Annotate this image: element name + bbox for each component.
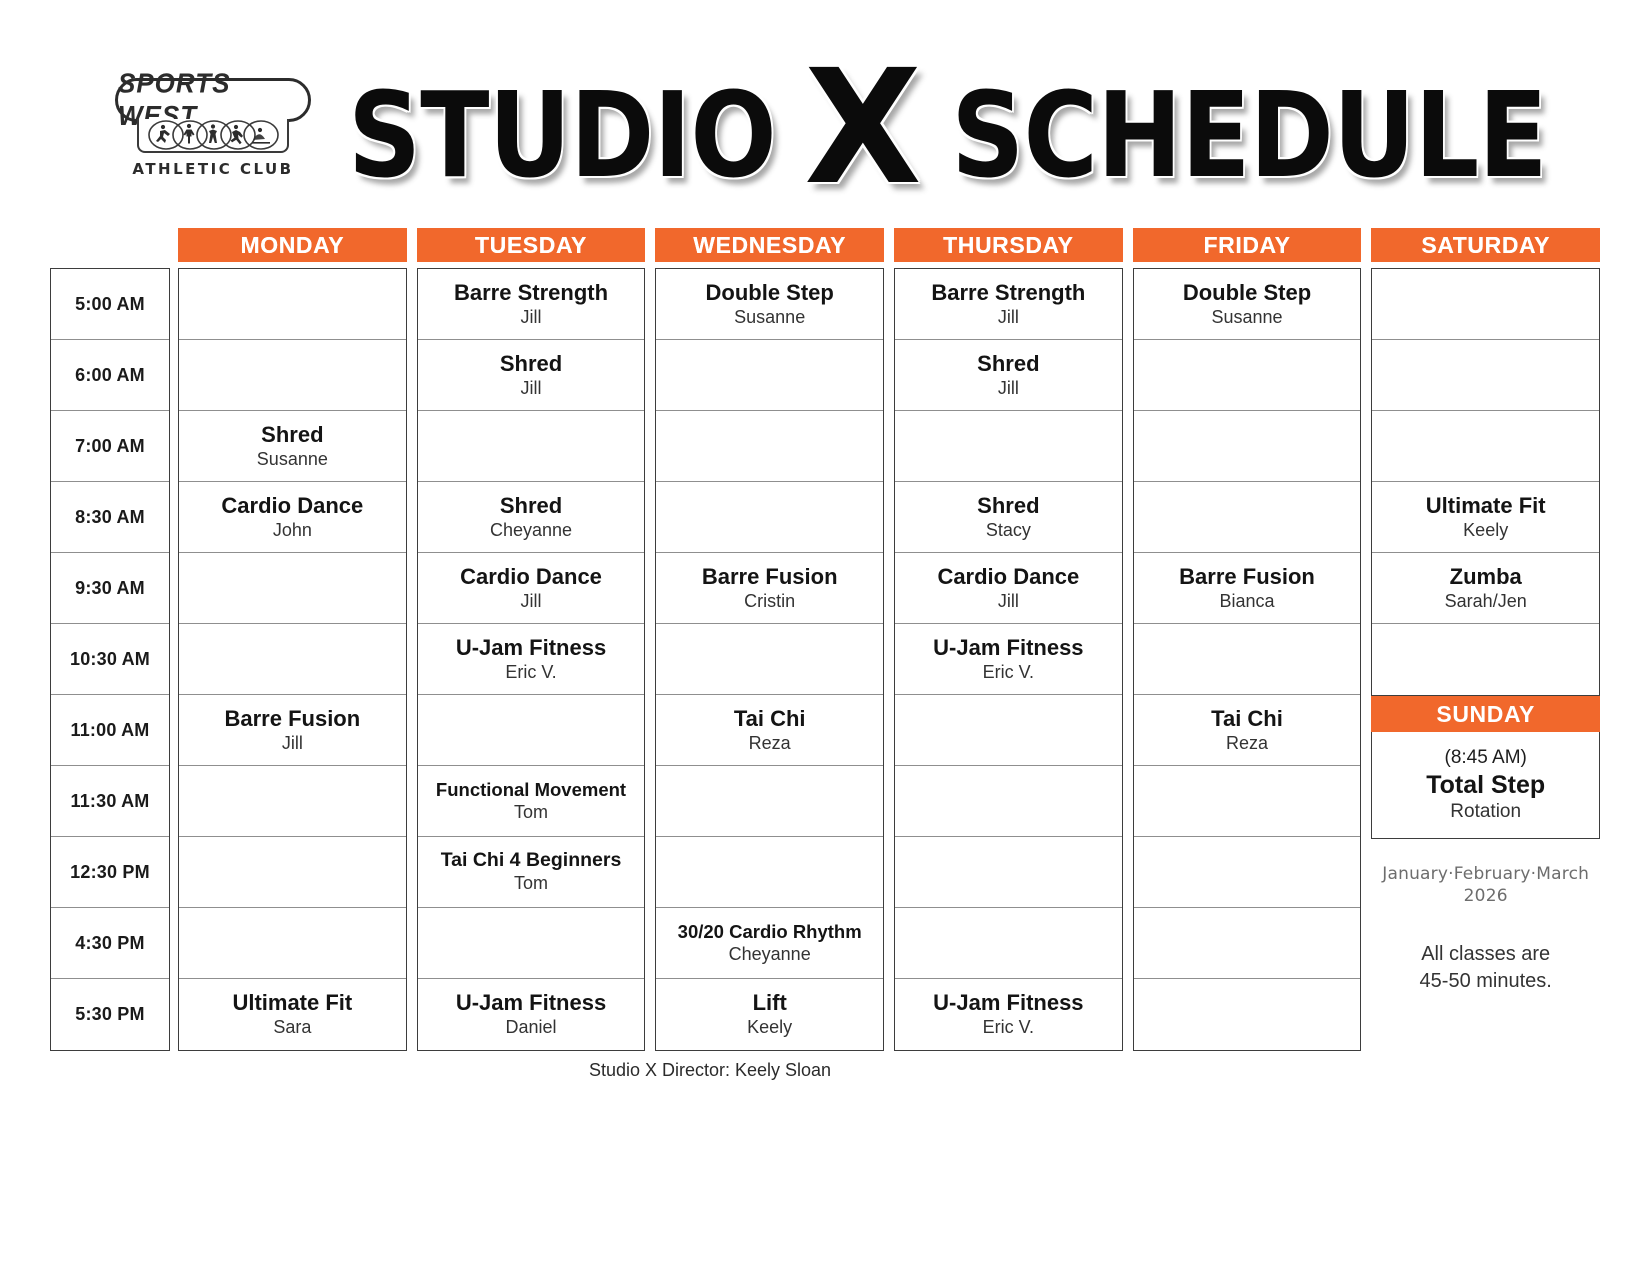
schedule-page: SPORTS WEST xyxy=(0,0,1650,1275)
time-slot: 4:30 PM xyxy=(51,908,169,979)
class-cell[interactable]: Functional MovementTom xyxy=(418,766,645,837)
class-cell[interactable]: U-Jam FitnessEric V. xyxy=(895,624,1122,695)
day-column-tuesday: TUESDAYBarre StrengthJillShredJillShredC… xyxy=(417,228,646,1051)
class-instructor: Jill xyxy=(998,378,1019,399)
class-instructor: Susanne xyxy=(1211,307,1282,328)
empty-cell xyxy=(418,411,645,482)
class-name: U-Jam Fitness xyxy=(456,991,606,1015)
class-cell[interactable]: Barre FusionJill xyxy=(179,695,406,766)
title-part-studio: STUDIO xyxy=(348,66,776,204)
empty-cell xyxy=(179,766,406,837)
sports-west-logo: SPORTS WEST xyxy=(114,78,312,200)
saturday-body: Ultimate FitKeelyZumbaSarah/Jen xyxy=(1371,268,1600,696)
class-duration-note: All classes are45-50 minutes. xyxy=(1371,941,1600,995)
class-instructor: Jill xyxy=(998,591,1019,612)
quarter-label: January·February·March2026 xyxy=(1371,863,1600,907)
class-name: Barre Fusion xyxy=(224,707,360,731)
side-notes: January·February·March2026All classes ar… xyxy=(1371,863,1600,995)
day-body: Barre StrengthJillShredJillShredCheyanne… xyxy=(417,268,646,1051)
time-slot: 6:00 AM xyxy=(51,340,169,411)
class-instructor: Jill xyxy=(282,733,303,754)
class-name: Ultimate Fit xyxy=(1426,494,1546,518)
day-column-monday: MONDAYShredSusanneCardio DanceJohnBarre … xyxy=(178,228,407,1051)
time-slot: 12:30 PM xyxy=(51,837,169,908)
class-instructor: Jill xyxy=(521,307,542,328)
logo-pill: SPORTS WEST xyxy=(115,78,311,122)
day-header-monday: MONDAY xyxy=(178,228,407,262)
class-instructor: Sara xyxy=(273,1017,311,1038)
class-name: Shred xyxy=(977,494,1039,518)
sunday-class-name: Total Step xyxy=(1426,770,1545,800)
class-instructor: Reza xyxy=(749,733,791,754)
director-credit: Studio X Director: Keely Sloan xyxy=(0,1060,1650,1081)
class-name: Zumba xyxy=(1450,565,1522,589)
class-cell[interactable]: ShredJill xyxy=(895,340,1122,411)
class-instructor: Eric V. xyxy=(983,1017,1034,1038)
sunday-class-time: (8:45 AM) xyxy=(1445,746,1527,770)
class-cell[interactable]: ZumbaSarah/Jen xyxy=(1372,553,1599,624)
class-name: Barre Fusion xyxy=(702,565,838,589)
logo-subtitle: ATHLETIC CLUB xyxy=(132,160,293,178)
class-instructor: Jill xyxy=(521,591,542,612)
class-cell[interactable]: ShredStacy xyxy=(895,482,1122,553)
sunday-class-instructor: Rotation xyxy=(1450,800,1521,824)
empty-cell xyxy=(656,837,883,908)
class-name: Barre Strength xyxy=(931,281,1085,305)
day-body: Double StepSusanneBarre FusionBiancaTai … xyxy=(1133,268,1362,1051)
class-instructor: Jill xyxy=(998,307,1019,328)
empty-cell xyxy=(656,624,883,695)
time-slot: 11:00 AM xyxy=(51,695,169,766)
class-cell[interactable]: U-Jam FitnessDaniel xyxy=(418,979,645,1050)
empty-cell xyxy=(895,908,1122,979)
class-name: Cardio Dance xyxy=(221,494,363,518)
empty-cell xyxy=(1134,482,1361,553)
quarter-year: 2026 xyxy=(1371,885,1600,907)
class-instructor: Tom xyxy=(514,802,548,823)
time-slot: 5:30 PM xyxy=(51,979,169,1050)
class-name: Shred xyxy=(500,494,562,518)
day-body: Double StepSusanneBarre FusionCristinTai… xyxy=(655,268,884,1051)
time-slot: 10:30 AM xyxy=(51,624,169,695)
class-name: Tai Chi xyxy=(1211,707,1283,731)
class-name: Double Step xyxy=(1183,281,1311,305)
day-header-thursday: THURSDAY xyxy=(894,228,1123,262)
class-instructor: Tom xyxy=(514,873,548,894)
class-cell[interactable]: Barre StrengthJill xyxy=(418,269,645,340)
time-slot: 8:30 AM xyxy=(51,482,169,553)
class-name: Double Step xyxy=(706,281,834,305)
time-slot: 5:00 AM xyxy=(51,269,169,340)
class-name: Barre Strength xyxy=(454,281,608,305)
class-cell[interactable]: Tai Chi 4 BeginnersTom xyxy=(418,837,645,908)
empty-cell xyxy=(1134,624,1361,695)
empty-cell xyxy=(418,908,645,979)
class-name: Cardio Dance xyxy=(460,565,602,589)
empty-cell xyxy=(179,269,406,340)
class-cell[interactable]: Double StepSusanne xyxy=(1134,269,1361,340)
class-cell[interactable]: U-Jam FitnessEric V. xyxy=(418,624,645,695)
class-instructor: Daniel xyxy=(505,1017,556,1038)
day-header-sunday: SUNDAY xyxy=(1371,696,1600,732)
schedule-grid: 5:00 AM6:00 AM7:00 AM8:30 AM9:30 AM10:30… xyxy=(50,228,1600,1051)
class-cell[interactable]: Cardio DanceJohn xyxy=(179,482,406,553)
day-body: ShredSusanneCardio DanceJohnBarre Fusion… xyxy=(178,268,407,1051)
class-name: Shred xyxy=(261,423,323,447)
empty-cell xyxy=(656,482,883,553)
empty-cell xyxy=(1372,269,1599,340)
day-body: Barre StrengthJillShredJillShredStacyCar… xyxy=(894,268,1123,1051)
day-header-friday: FRIDAY xyxy=(1133,228,1362,262)
duration-line-1: All classes are xyxy=(1371,941,1600,968)
empty-cell xyxy=(1372,411,1599,482)
class-name: Lift xyxy=(753,991,787,1015)
day-header-saturday: SATURDAY xyxy=(1371,228,1600,262)
empty-cell xyxy=(895,837,1122,908)
class-name: Functional Movement xyxy=(436,780,626,800)
empty-cell xyxy=(1372,340,1599,411)
class-cell[interactable]: Cardio DanceJill xyxy=(895,553,1122,624)
empty-cell xyxy=(1134,837,1361,908)
class-instructor: John xyxy=(273,520,312,541)
class-name: 30/20 Cardio Rhythm xyxy=(678,922,862,942)
empty-cell xyxy=(656,766,883,837)
class-name: Shred xyxy=(500,352,562,376)
empty-cell xyxy=(1134,979,1361,1050)
page-title-text: STUDIO X SCHEDULE xyxy=(348,49,1547,207)
duration-line-2: 45-50 minutes. xyxy=(1371,968,1600,995)
day-columns: MONDAYShredSusanneCardio DanceJohnBarre … xyxy=(178,228,1600,1051)
quarter-months: January·February·March xyxy=(1371,863,1600,885)
class-cell[interactable]: Cardio DanceJill xyxy=(418,553,645,624)
class-instructor: Reza xyxy=(1226,733,1268,754)
day-column-wednesday: WEDNESDAYDouble StepSusanneBarre FusionC… xyxy=(655,228,884,1051)
class-instructor: Cheyanne xyxy=(729,944,811,965)
class-cell[interactable]: LiftKeely xyxy=(656,979,883,1050)
class-cell[interactable]: Ultimate FitSara xyxy=(179,979,406,1050)
empty-cell xyxy=(1134,411,1361,482)
class-cell[interactable]: ShredSusanne xyxy=(179,411,406,482)
class-instructor: Eric V. xyxy=(505,662,556,683)
time-column: 5:00 AM6:00 AM7:00 AM8:30 AM9:30 AM10:30… xyxy=(50,268,170,1051)
class-cell[interactable]: Double StepSusanne xyxy=(656,269,883,340)
class-cell[interactable]: U-Jam FitnessEric V. xyxy=(895,979,1122,1050)
title-part-schedule: SCHEDULE xyxy=(951,66,1547,204)
class-instructor: Eric V. xyxy=(983,662,1034,683)
class-name: Tai Chi xyxy=(734,707,806,731)
athletes-circles-icon xyxy=(137,119,289,153)
empty-cell xyxy=(179,837,406,908)
empty-cell xyxy=(895,411,1122,482)
empty-cell xyxy=(656,411,883,482)
class-cell[interactable]: ShredCheyanne xyxy=(418,482,645,553)
class-name: Ultimate Fit xyxy=(232,991,352,1015)
class-instructor: Keely xyxy=(747,1017,792,1038)
day-header-tuesday: TUESDAY xyxy=(417,228,646,262)
class-name: U-Jam Fitness xyxy=(456,636,606,660)
class-name: U-Jam Fitness xyxy=(933,636,1083,660)
empty-cell xyxy=(179,553,406,624)
class-cell[interactable]: ShredJill xyxy=(418,340,645,411)
empty-cell xyxy=(179,908,406,979)
class-instructor: Susanne xyxy=(734,307,805,328)
class-cell[interactable]: Barre FusionBianca xyxy=(1134,553,1361,624)
class-name: U-Jam Fitness xyxy=(933,991,1083,1015)
day-column-thursday: THURSDAYBarre StrengthJillShredJillShred… xyxy=(894,228,1123,1051)
class-cell[interactable]: Barre FusionCristin xyxy=(656,553,883,624)
time-slot: 9:30 AM xyxy=(51,553,169,624)
page-header: SPORTS WEST xyxy=(0,0,1650,222)
class-name: Tai Chi 4 Beginners xyxy=(441,850,622,871)
class-name: Barre Fusion xyxy=(1179,565,1315,589)
class-instructor: Cheyanne xyxy=(490,520,572,541)
time-slot: 11:30 AM xyxy=(51,766,169,837)
class-instructor: Stacy xyxy=(986,520,1031,541)
day-column-saturday: SATURDAYUltimate FitKeelyZumbaSarah/JenS… xyxy=(1371,228,1600,1051)
class-instructor: Sarah/Jen xyxy=(1445,591,1527,612)
class-instructor: Jill xyxy=(521,378,542,399)
class-cell[interactable]: 30/20 Cardio RhythmCheyanne xyxy=(656,908,883,979)
class-instructor: Bianca xyxy=(1220,591,1275,612)
class-instructor: Keely xyxy=(1463,520,1508,541)
class-cell[interactable]: Tai ChiReza xyxy=(656,695,883,766)
empty-cell xyxy=(1134,340,1361,411)
empty-cell xyxy=(179,624,406,695)
time-slot: 7:00 AM xyxy=(51,411,169,482)
title-part-x: X xyxy=(804,49,923,207)
day-header-wednesday: WEDNESDAY xyxy=(655,228,884,262)
sunday-class-block[interactable]: (8:45 AM)Total StepRotation xyxy=(1371,732,1600,839)
class-name: Shred xyxy=(977,352,1039,376)
empty-cell xyxy=(895,695,1122,766)
empty-cell xyxy=(1134,766,1361,837)
empty-cell xyxy=(418,695,645,766)
empty-cell xyxy=(1372,624,1599,695)
class-cell[interactable]: Ultimate FitKeely xyxy=(1372,482,1599,553)
class-name: Cardio Dance xyxy=(937,565,1079,589)
class-cell[interactable]: Tai ChiReza xyxy=(1134,695,1361,766)
empty-cell xyxy=(895,766,1122,837)
empty-cell xyxy=(656,340,883,411)
empty-cell xyxy=(1134,908,1361,979)
class-instructor: Cristin xyxy=(744,591,795,612)
class-instructor: Susanne xyxy=(257,449,328,470)
empty-cell xyxy=(179,340,406,411)
page-title: STUDIO X SCHEDULE xyxy=(348,58,1458,198)
class-cell[interactable]: Barre StrengthJill xyxy=(895,269,1122,340)
day-column-friday: FRIDAYDouble StepSusanneBarre FusionBian… xyxy=(1133,228,1362,1051)
